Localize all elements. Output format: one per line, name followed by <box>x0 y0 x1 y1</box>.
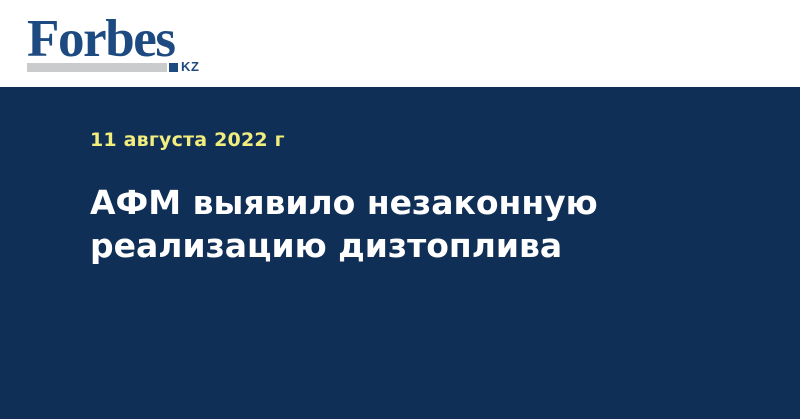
article-share-card: Forbes KZ 11 августа 2022 г АФМ выявило … <box>0 0 800 419</box>
forbes-wordmark: Forbes <box>27 13 175 66</box>
brand-header: Forbes KZ <box>0 0 800 87</box>
logo-locale-code: KZ <box>181 60 200 73</box>
article-headline: АФМ выявило незаконную реализацию дизтоп… <box>90 181 710 267</box>
hero-panel: 11 августа 2022 г АФМ выявило незаконную… <box>0 87 800 419</box>
logo-square-icon <box>169 63 178 72</box>
publication-date: 11 августа 2022 г <box>90 129 285 151</box>
forbes-kz-logo[interactable]: Forbes KZ <box>27 13 217 75</box>
logo-underline-bar <box>27 63 167 72</box>
